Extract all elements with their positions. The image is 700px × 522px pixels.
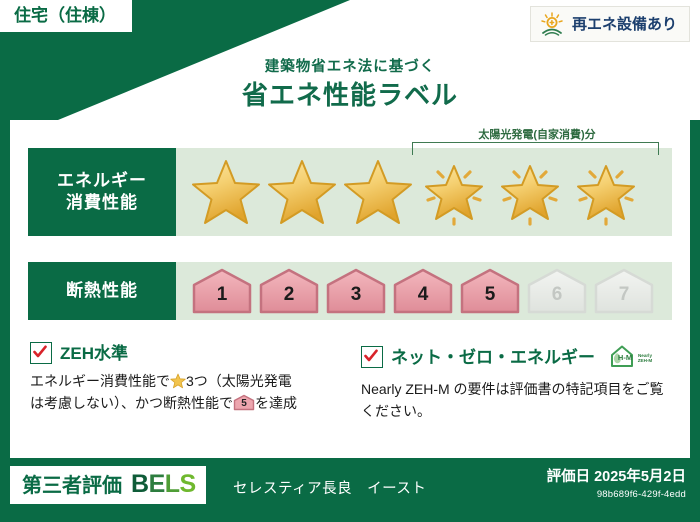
net-zero-column: ネット・ゼロ・エネルギー H-M Nearly ZEH-M Nearly ZEH… bbox=[361, 342, 670, 422]
category-tag: 住宅（住棟） bbox=[0, 0, 132, 32]
zeh-star-count: 3つ（太陽光発電 bbox=[186, 373, 292, 389]
star-4-solar bbox=[418, 156, 490, 228]
bels-letter-s: S bbox=[180, 470, 196, 498]
net-zero-description: Nearly ZEH-M の要件は評価書の特記項目をご覧ください。 bbox=[361, 379, 670, 422]
evaluation-id: 98b689f6-429f-4edd bbox=[547, 488, 686, 501]
star-6-solar bbox=[570, 156, 642, 228]
evaluation-date: 評価日 2025年5月2日 bbox=[547, 469, 686, 486]
insulation-badge-7: 7 bbox=[592, 267, 656, 315]
insulation-performance-label: 断熱性能 bbox=[28, 262, 176, 320]
star-1 bbox=[190, 156, 262, 228]
net-zero-title: ネット・ゼロ・エネルギー bbox=[391, 349, 595, 366]
energy-performance-label: エネルギー 消費性能 bbox=[28, 148, 176, 236]
energy-performance-row: エネルギー 消費性能 太陽光発電(自家消費)分 bbox=[28, 148, 672, 236]
inline-star-icon bbox=[170, 373, 186, 389]
net-zero-header: ネット・ゼロ・エネルギー H-M Nearly ZEH-M bbox=[361, 342, 670, 372]
insulation-badge-3: 3 bbox=[324, 267, 388, 315]
zeh-column: ZEH水準 エネルギー消費性能で3つ（太陽光発電は考慮しない）、かつ断熱性能で5… bbox=[30, 342, 339, 422]
footer: 第三者評価 BELS セレスティア長良 イースト 評価日 2025年5月2日 9… bbox=[0, 458, 700, 522]
insulation-badge-7-num: 7 bbox=[592, 285, 656, 304]
insulation-badge-1: 1 bbox=[190, 267, 254, 315]
zeh-text-part1: エネルギー消費性能で bbox=[30, 373, 170, 389]
building-name: セレスティア長良 イースト bbox=[233, 477, 426, 498]
bels-letter-b: B bbox=[131, 470, 149, 498]
insulation-badge-2: 2 bbox=[257, 267, 321, 315]
zeh-text-part2: は考慮しない）、かつ断熱性能で bbox=[30, 395, 233, 411]
main-card: エネルギー 消費性能 太陽光発電(自家消費)分 bbox=[10, 120, 690, 458]
bels-letter-e: E bbox=[149, 470, 165, 498]
insulation-badge-6-num: 6 bbox=[525, 285, 589, 304]
insulation-badge-1-num: 1 bbox=[190, 285, 254, 304]
star-5-solar bbox=[494, 156, 566, 228]
insulation-performance-body: 1 2 3 4 bbox=[176, 262, 672, 320]
third-party-label: 第三者評価 bbox=[22, 476, 122, 496]
energy-label-root: 住宅（住棟） 再エネ設備あり 建築物省エネ法に基づく 省エネ性能ラベル bbox=[0, 0, 700, 522]
zeh-text-part3: を達成 bbox=[255, 395, 297, 411]
insulation-badge-4: 4 bbox=[391, 267, 455, 315]
insulation-label-text: 断熱性能 bbox=[66, 280, 138, 302]
insulation-badge-3-num: 3 bbox=[324, 285, 388, 304]
info-columns: ZEH水準 エネルギー消費性能で3つ（太陽光発電は考慮しない）、かつ断熱性能で5… bbox=[30, 342, 670, 422]
title-subtitle: 建築物省エネ法に基づく bbox=[0, 60, 700, 76]
svg-text:H-M: H-M bbox=[618, 353, 632, 362]
page-title: 建築物省エネ法に基づく 省エネ性能ラベル bbox=[0, 60, 700, 110]
zeh-header: ZEH水準 bbox=[30, 342, 339, 364]
solar-bracket bbox=[412, 142, 659, 155]
svg-text:ZEH-M: ZEH-M bbox=[638, 358, 653, 363]
title-main: 省エネ性能ラベル bbox=[0, 81, 700, 110]
evaluation-info: 評価日 2025年5月2日 98b689f6-429f-4edd bbox=[547, 469, 686, 502]
zeh-m-logo-icon: H-M Nearly ZEH-M bbox=[607, 342, 655, 372]
star-rating bbox=[176, 156, 642, 228]
bels-logo: BELS bbox=[131, 472, 196, 497]
inline-insulation-badge-icon: 5 bbox=[233, 394, 255, 411]
check-icon bbox=[363, 348, 379, 364]
renewable-equipment-badge: 再エネ設備あり bbox=[530, 6, 690, 42]
bels-letter-l: L bbox=[165, 470, 180, 498]
star-2 bbox=[266, 156, 338, 228]
zeh-title: ZEH水準 bbox=[60, 345, 128, 362]
insulation-badge-5-num: 5 bbox=[458, 285, 522, 304]
insulation-badge-4-num: 4 bbox=[391, 285, 455, 304]
solar-sun-icon bbox=[539, 12, 565, 36]
renewable-badge-label: 再エネ設備あり bbox=[572, 17, 677, 32]
zeh-checkbox[interactable] bbox=[30, 342, 52, 364]
zeh-description: エネルギー消費性能で3つ（太陽光発電は考慮しない）、かつ断熱性能で5を達成 bbox=[30, 371, 339, 414]
net-zero-checkbox[interactable] bbox=[361, 346, 383, 368]
insulation-performance-row: 断熱性能 bbox=[28, 262, 672, 320]
insulation-badge-list: 1 2 3 4 bbox=[176, 267, 656, 315]
solar-caption: 太陽光発電(自家消費)分 bbox=[412, 126, 662, 142]
energy-label-line1: エネルギー bbox=[57, 170, 147, 192]
energy-label-line2: 消費性能 bbox=[66, 192, 138, 214]
insulation-badge-6: 6 bbox=[525, 267, 589, 315]
insulation-badge-5: 5 bbox=[458, 267, 522, 315]
insulation-badge-2-num: 2 bbox=[257, 285, 321, 304]
bels-tag: 第三者評価 BELS bbox=[10, 466, 206, 504]
star-3 bbox=[342, 156, 414, 228]
inline-badge-num: 5 bbox=[233, 399, 255, 409]
check-icon bbox=[32, 344, 48, 360]
energy-performance-body: 太陽光発電(自家消費)分 bbox=[176, 148, 672, 236]
